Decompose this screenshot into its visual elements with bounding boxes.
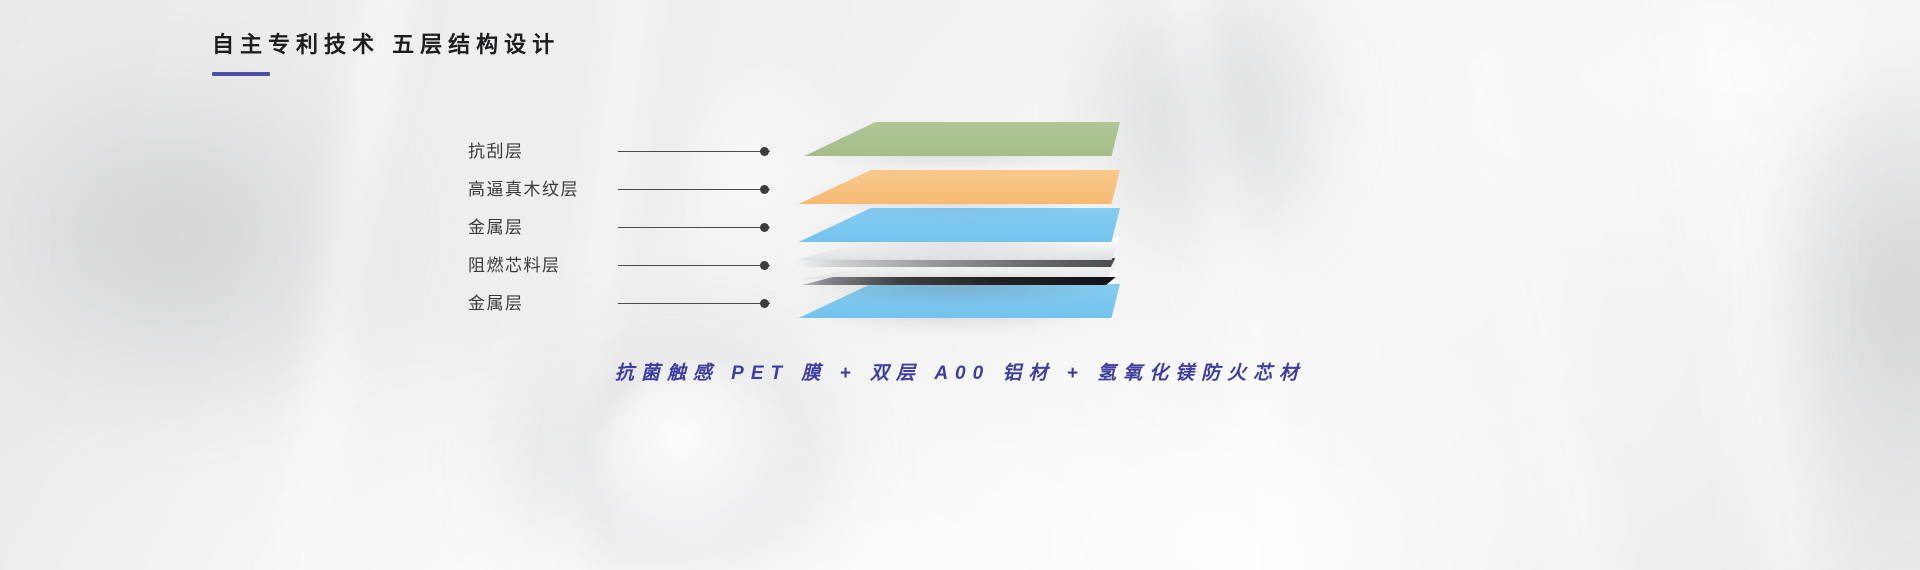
leader-line: [618, 265, 770, 266]
leader-line: [618, 151, 770, 152]
layer-label: 高逼真木纹层: [468, 170, 579, 210]
layer-label: 抗刮层: [468, 132, 524, 172]
layer-structure-diagram: 抗刮层 高逼真木纹层 金属层 阻燃芯料层 金属层: [0, 110, 1920, 340]
leader-dot: [760, 147, 769, 156]
layer-plate-scratch-resistant: [796, 122, 1120, 156]
plate-face: [796, 122, 1120, 156]
page-title: 自主专利技术 五层结构设计: [212, 34, 560, 56]
layer-label: 金属层: [468, 284, 524, 324]
leader-dot: [760, 299, 769, 308]
layer-plate-wood-grain: [790, 170, 1120, 204]
leader-line: [618, 227, 770, 228]
leader-line: [618, 189, 770, 190]
leader-dot: [760, 185, 769, 194]
title-accent-bar: [212, 72, 270, 76]
plate-face: [790, 170, 1120, 204]
layer-label: 金属层: [468, 208, 524, 248]
plate-shadow: [800, 282, 1110, 304]
tagline: 抗菌触感 PET 膜 + 双层 A00 铝材 + 氢氧化镁防火芯材: [0, 358, 1920, 385]
leader-line: [618, 303, 770, 304]
background-highlight: [595, 365, 805, 570]
leader-dot: [760, 223, 769, 232]
header: 自主专利技术 五层结构设计: [212, 34, 560, 76]
leader-dot: [760, 261, 769, 270]
layer-label: 阻燃芯料层: [468, 246, 561, 286]
